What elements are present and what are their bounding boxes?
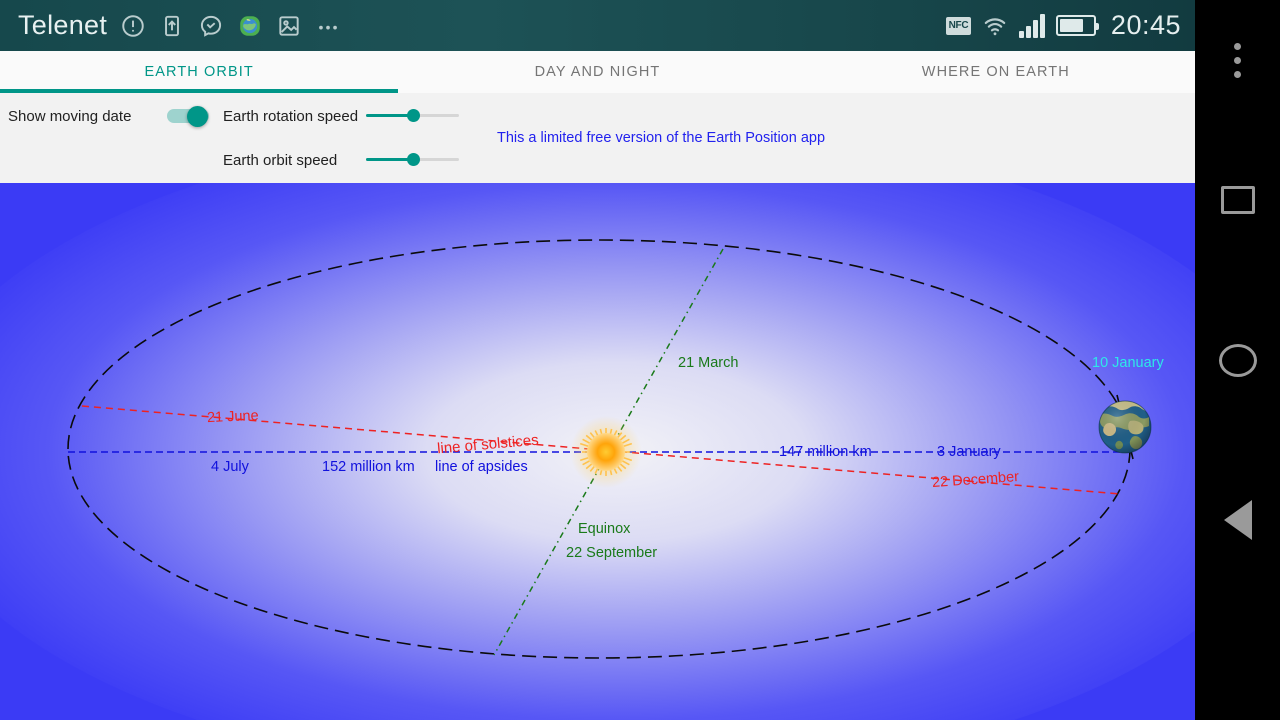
- orbit-svg: [0, 183, 1195, 720]
- earth-orbit-speed-label: Earth orbit speed: [223, 152, 337, 169]
- earth-orbit-speed-slider[interactable]: [366, 151, 459, 169]
- label-3-january: 3 January: [937, 444, 1001, 460]
- label-10-january: 10 January: [1092, 355, 1164, 371]
- battery-icon: [1056, 15, 1096, 36]
- back-triangle-icon: [1224, 500, 1252, 540]
- overflow-dots-icon: [1234, 43, 1241, 78]
- system-navigation-bar: [1195, 0, 1280, 720]
- label-21-march: 21 March: [678, 355, 738, 371]
- status-bar-left: Telenet: [0, 10, 341, 41]
- label-line-of-apsides: line of apsides: [435, 459, 528, 475]
- label-equinox: Equinox: [578, 521, 630, 537]
- signal-strength-icon: [1019, 14, 1045, 38]
- phone-screen: Telenet: [0, 0, 1280, 720]
- earth-rotation-speed-slider[interactable]: [366, 107, 459, 125]
- label-22-september: 22 September: [566, 545, 657, 561]
- earth-rotation-speed-label: Earth rotation speed: [223, 108, 358, 125]
- sim-card-icon: [159, 13, 185, 39]
- recents-square-icon: [1221, 186, 1255, 214]
- back-button[interactable]: [1195, 480, 1280, 560]
- label-152-million-km: 152 million km: [322, 459, 415, 475]
- carrier-name: Telenet: [18, 10, 107, 41]
- home-circle-icon: [1219, 344, 1257, 377]
- clock: 20:45: [1111, 10, 1181, 41]
- overflow-menu-button[interactable]: [1195, 20, 1280, 100]
- slider-thumb[interactable]: [407, 153, 420, 166]
- show-moving-date-label: Show moving date: [8, 108, 131, 125]
- overflow-dots-icon: [315, 13, 341, 39]
- tab-earth-orbit[interactable]: EARTH ORBIT: [0, 51, 398, 93]
- label-4-july: 4 July: [211, 459, 249, 475]
- earth-app-icon: [237, 13, 263, 39]
- gallery-icon: [276, 13, 302, 39]
- messenger-icon: [198, 13, 224, 39]
- recent-apps-button[interactable]: [1195, 160, 1280, 240]
- sun-graphic: [570, 416, 642, 488]
- status-bar: Telenet: [0, 0, 1195, 51]
- slider-thumb[interactable]: [407, 109, 420, 122]
- home-button[interactable]: [1195, 320, 1280, 400]
- tab-day-and-night[interactable]: DAY AND NIGHT: [398, 51, 796, 93]
- toggle-thumb: [187, 106, 208, 127]
- wifi-icon: [982, 13, 1008, 39]
- label-147-million-km: 147 million km: [779, 444, 872, 460]
- app-window: Telenet: [0, 0, 1195, 720]
- label-21-june: 21 June: [207, 408, 259, 426]
- nfc-icon: NFC: [946, 17, 971, 35]
- earth-orbit-diagram[interactable]: 21 March 10 January 21 June line of sols…: [0, 183, 1195, 720]
- status-bar-right: NFC 20:45: [946, 0, 1181, 51]
- free-version-notice: This a limited free version of the Earth…: [497, 130, 825, 146]
- tab-where-on-earth[interactable]: WHERE ON EARTH: [797, 51, 1195, 93]
- show-moving-date-toggle[interactable]: [167, 106, 209, 126]
- alert-circle-icon: [120, 13, 146, 39]
- tab-bar: EARTH ORBIT DAY AND NIGHT WHERE ON EARTH: [0, 51, 1195, 93]
